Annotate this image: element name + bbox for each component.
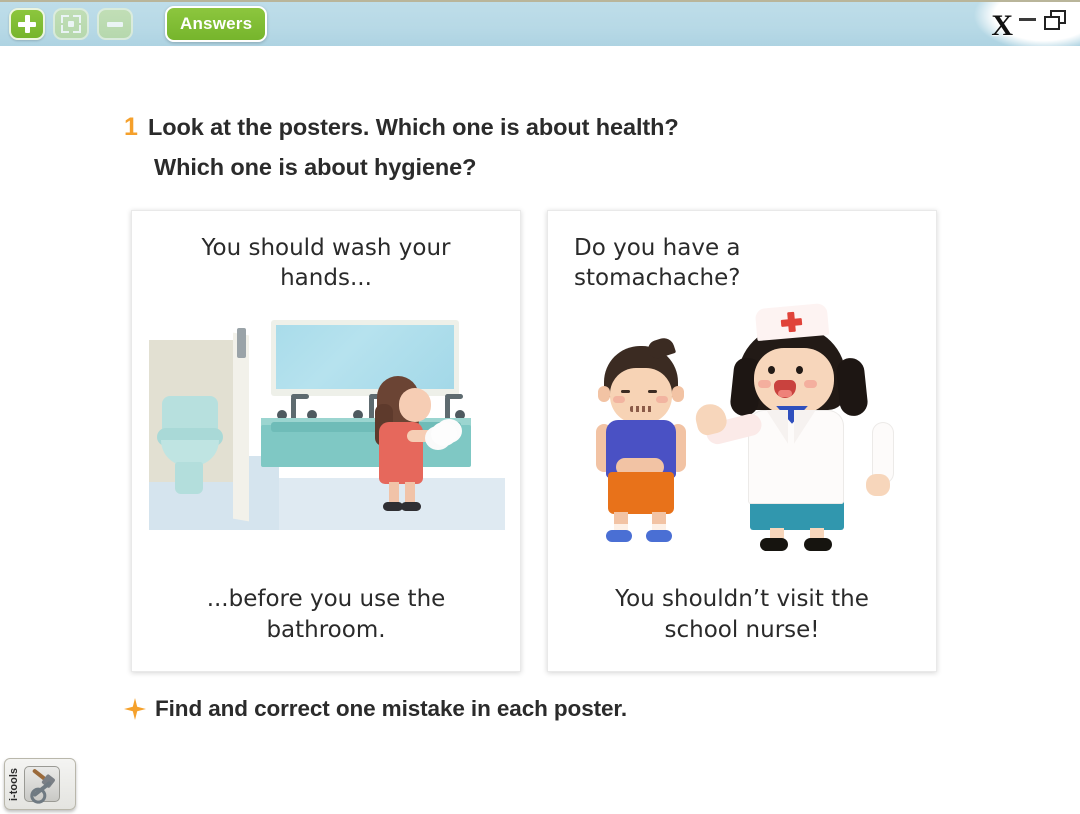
question-line-2: Which one is about hygiene?: [154, 150, 984, 184]
poster-title: Do you have a stomachache?: [548, 211, 936, 294]
minus-icon: [107, 22, 123, 27]
itools-widget[interactable]: i-tools: [4, 758, 76, 810]
question-block: 1 Look at the posters. Which one is abou…: [124, 110, 984, 184]
poster-health[interactable]: Do you have a stomachache?: [547, 210, 937, 672]
top-toolbar: Answers X: [0, 2, 1080, 46]
boy-character: [586, 346, 696, 542]
nurse-and-boy-illustration: [548, 294, 936, 585]
poster-gallery: You should wash your hands...: [131, 210, 937, 672]
close-icon[interactable]: X: [991, 11, 1013, 41]
lesson-page: 1 Look at the posters. Which one is abou…: [0, 48, 1080, 814]
fullscreen-icon: [61, 15, 81, 33]
star-icon: [124, 698, 146, 720]
fullscreen-button[interactable]: [53, 8, 89, 40]
bathroom-handwashing-illustration: [132, 294, 520, 585]
bottom-instruction-text: Find and correct one mistake in each pos…: [155, 696, 627, 722]
minimize-icon[interactable]: [1019, 18, 1036, 21]
application-window: Answers X 1 Look at the posters. Which o…: [0, 0, 1080, 814]
window-controls: X: [960, 2, 1080, 46]
poster-title: You should wash your hands...: [132, 211, 520, 294]
zoom-in-button[interactable]: [9, 8, 45, 40]
bottom-instruction: Find and correct one mistake in each pos…: [124, 696, 627, 722]
question-number: 1: [124, 110, 148, 144]
itools-label: i-tools: [9, 768, 20, 801]
zoom-out-button[interactable]: [97, 8, 133, 40]
tools-icon[interactable]: [24, 766, 60, 802]
nurse-character: [696, 306, 896, 546]
poster-caption: You shouldn’t visit the school nurse!: [548, 584, 936, 671]
question-line-1: Look at the posters. Which one is about …: [148, 110, 679, 144]
poster-hygiene[interactable]: You should wash your hands...: [131, 210, 521, 672]
answers-button[interactable]: Answers: [165, 6, 267, 42]
restore-window-icon[interactable]: [1044, 10, 1066, 30]
poster-caption: ...before you use the bathroom.: [132, 584, 520, 671]
